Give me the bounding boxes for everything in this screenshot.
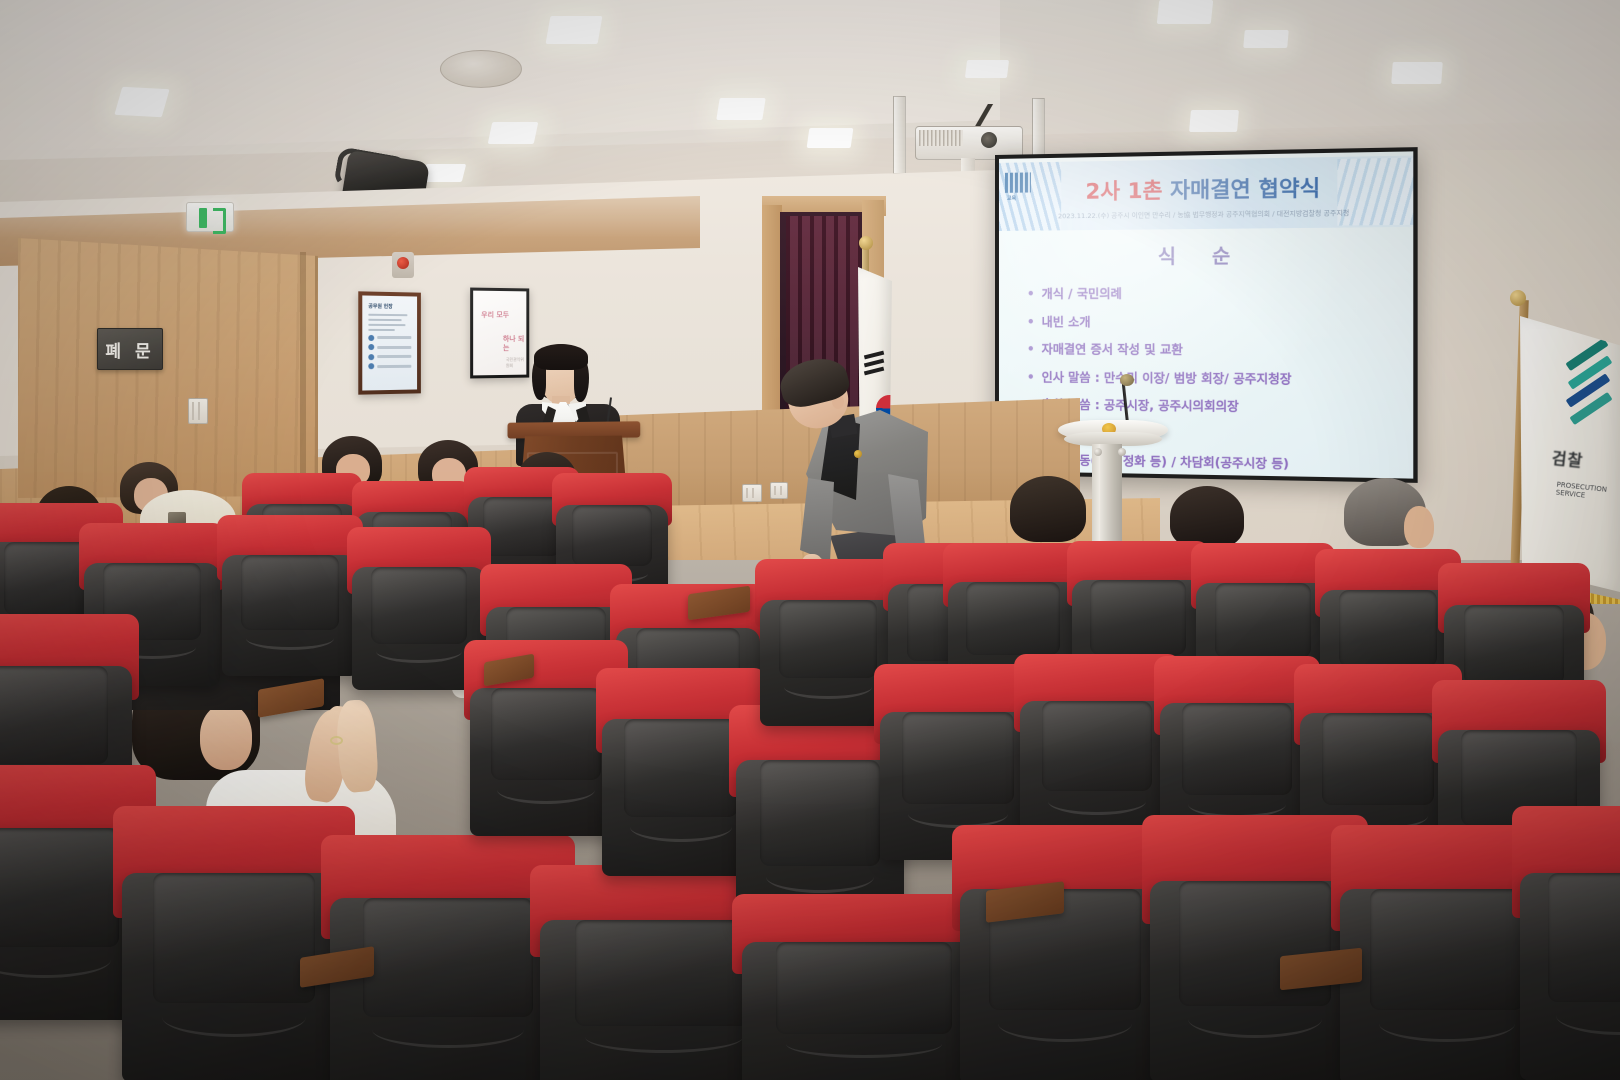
flag-finial [1510, 290, 1526, 306]
ceiling-light-panel [546, 16, 603, 44]
clapping-hands [308, 700, 388, 808]
ceiling-light-panel [807, 128, 854, 148]
bowing-official [772, 358, 932, 570]
door-left-wood[interactable] [18, 238, 318, 498]
auditorium-photo: 폐 문 공무원 헌장 우리 모두 하나 되는 국민권익위원회 [0, 0, 1620, 1080]
projector-lens [981, 132, 997, 148]
auditorium-seat[interactable] [742, 890, 986, 1080]
auditorium-seat[interactable] [1150, 810, 1360, 1080]
auditorium-seat[interactable] [222, 512, 358, 676]
notice-bullet-icon [368, 354, 374, 360]
fire-alarm-icon[interactable] [392, 252, 414, 278]
flag-cloth: 검찰 PROSECUTION SERVICE [1520, 316, 1620, 592]
auditorium-seat[interactable] [122, 800, 346, 1080]
auditorium-seat[interactable] [1520, 800, 1620, 1080]
ring-icon [330, 736, 343, 745]
ceiling-light-panel [716, 98, 765, 120]
lapel-badge-icon [854, 450, 862, 458]
auditorium-seat[interactable] [960, 820, 1170, 1080]
ceiling-light-panel [114, 87, 169, 118]
door-left-edge [300, 252, 306, 498]
microphone-head-icon [1120, 374, 1134, 386]
ceiling-light-panel [1391, 62, 1443, 84]
flag-finial [859, 236, 873, 250]
ceiling-light-panel [1243, 30, 1289, 48]
ceiling-light-panel [1157, 0, 1214, 24]
closed-door-sign: 폐 문 [97, 328, 163, 370]
audience-face [1404, 506, 1434, 548]
flag-label-en: PROSECUTION SERVICE [1555, 481, 1620, 504]
framed-notice-public-service-charter: 공무원 헌장 [358, 291, 421, 394]
flag-label-ko: 검찰 [1551, 444, 1585, 471]
audience-head [1010, 476, 1086, 542]
poster-line-1: 우리 모두 [481, 311, 509, 320]
wall-outlet[interactable] [742, 484, 762, 502]
emergency-exit-icon [186, 202, 234, 232]
ceiling-vent [440, 50, 522, 88]
notice-bullet-icon [368, 363, 374, 369]
closed-door-sign-label: 폐 문 [105, 337, 154, 362]
notice-bullet-icon [368, 334, 374, 340]
wall-outlet[interactable] [188, 398, 208, 424]
notice-bullet-icon [368, 344, 374, 350]
notice-title: 공무원 헌장 [368, 303, 411, 311]
ceiling-light-panel [1189, 110, 1239, 132]
ceiling-light-panel [488, 122, 539, 144]
ceiling-light-panel [965, 60, 1009, 78]
